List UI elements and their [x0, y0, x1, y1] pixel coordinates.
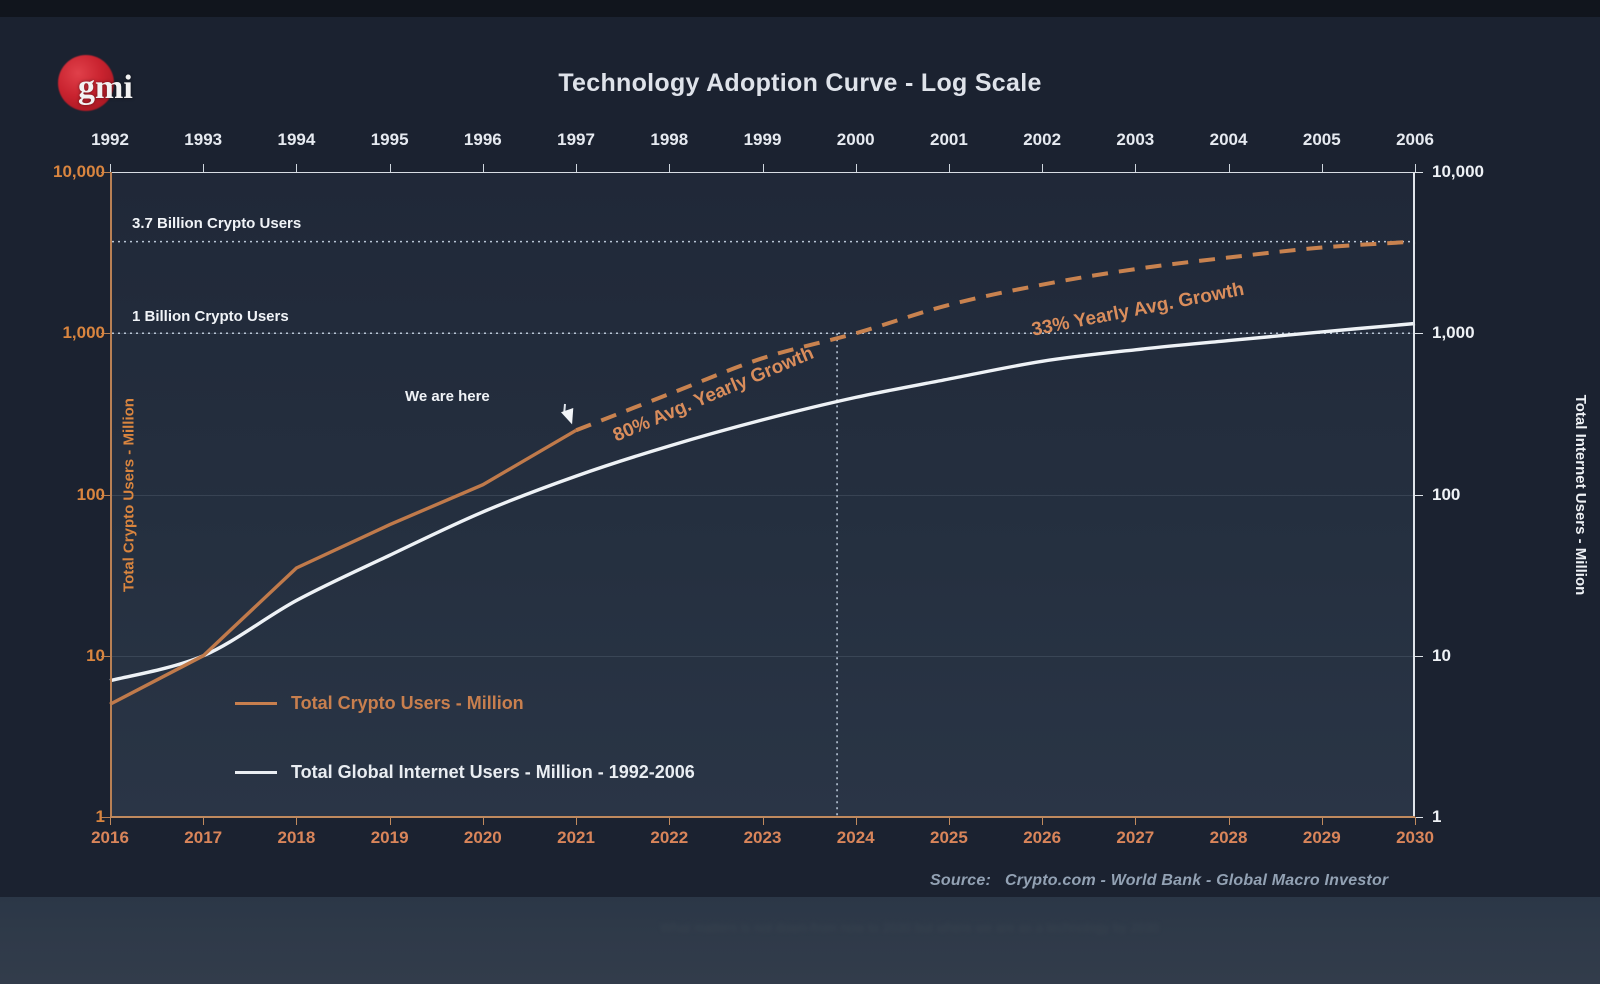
tick-bottom [203, 817, 204, 825]
y-axis-left-tick-label: 100 [77, 485, 105, 505]
tick-top [1229, 164, 1230, 172]
x-axis-top-tick-label: 2005 [1303, 130, 1341, 150]
y-axis-left-tick-label: 10,000 [53, 162, 105, 182]
tick-bottom [483, 817, 484, 825]
slide-canvas: gmi Technology Adoption Curve - Log Scal… [0, 0, 1600, 984]
tick-top [203, 164, 204, 172]
tick-bottom [856, 817, 857, 825]
tick-top [1415, 164, 1416, 172]
tick-top [669, 164, 670, 172]
x-axis-top-tick-label: 1997 [557, 130, 595, 150]
x-axis-top-tick-label: 1993 [184, 130, 222, 150]
y-axis-right-tick-label: 100 [1432, 485, 1460, 505]
tick-top [110, 164, 111, 172]
x-axis-top-tick-label: 1996 [464, 130, 502, 150]
x-axis-bottom-tick-label: 2023 [744, 828, 782, 848]
x-axis-bottom-tick-label: 2022 [650, 828, 688, 848]
x-axis-top-tick-label: 2006 [1396, 130, 1434, 150]
bottom-letterbox-band [0, 897, 1600, 984]
axis-bottom-line [110, 816, 1415, 818]
y-axis-right-tick-label: 10,000 [1432, 162, 1484, 182]
x-axis-bottom-tick-label: 2021 [557, 828, 595, 848]
x-axis-bottom-tick-label: 2020 [464, 828, 502, 848]
tick-bottom [1322, 817, 1323, 825]
legend-swatch-internet [235, 771, 277, 774]
x-axis-bottom-tick-label: 2019 [371, 828, 409, 848]
x-axis-bottom-tick-label: 2018 [278, 828, 316, 848]
series-lines [110, 172, 1415, 817]
x-axis-top-tick-label: 1994 [278, 130, 316, 150]
x-axis-top-tick-label: 1999 [744, 130, 782, 150]
y-axis-right-tick-label: 1 [1432, 807, 1441, 827]
tick-bottom [576, 817, 577, 825]
tick-bottom [110, 817, 111, 825]
x-axis-bottom-tick-label: 2027 [1116, 828, 1154, 848]
source-line: Source:Crypto.com - World Bank - Global … [930, 872, 1388, 890]
tick-bottom [669, 817, 670, 825]
slide-body: gmi Technology Adoption Curve - Log Scal… [0, 17, 1600, 897]
y-axis-right-tick-label: 1,000 [1432, 323, 1475, 343]
x-axis-bottom-tick-label: 2029 [1303, 828, 1341, 848]
tick-bottom [1229, 817, 1230, 825]
legend-label-internet: Total Global Internet Users - Million - … [291, 762, 695, 783]
source-key: Source: [930, 872, 991, 889]
y-axis-right-tick-label: 10 [1432, 646, 1451, 666]
x-axis-bottom-tick-label: 2024 [837, 828, 875, 848]
x-axis-bottom-tick-label: 2028 [1210, 828, 1248, 848]
annotation-1-billion: 1 Billion Crypto Users [132, 308, 289, 325]
annotation-37-billion: 3.7 Billion Crypto Users [132, 215, 301, 232]
x-axis-top-tick-label: 2002 [1023, 130, 1061, 150]
x-axis-bottom-tick-label: 2025 [930, 828, 968, 848]
blurred-footer-caption: What matters is not down-from now to 203… [660, 918, 1280, 938]
tick-top [949, 164, 950, 172]
tick-top [856, 164, 857, 172]
x-axis-bottom-tick-label: 2017 [184, 828, 222, 848]
tick-top [483, 164, 484, 172]
source-value: Crypto.com - World Bank - Global Macro I… [1005, 872, 1388, 889]
legend-swatch-crypto [235, 702, 277, 705]
tick-bottom [1042, 817, 1043, 825]
tick-top [1322, 164, 1323, 172]
y-axis-left-tick-label: 1 [96, 807, 105, 827]
x-axis-bottom-tick-label: 2016 [91, 828, 129, 848]
tick-top [296, 164, 297, 172]
page-title: Technology Adoption Curve - Log Scale [0, 69, 1600, 98]
axis-title-right: Total Internet Users - Million [1572, 394, 1589, 595]
axis-title-left: Total Crypto Users - Million [120, 398, 137, 592]
legend-item-crypto[interactable]: Total Crypto Users - Million [235, 693, 524, 714]
tick-bottom [1135, 817, 1136, 825]
tick-top [576, 164, 577, 172]
tick-top [390, 164, 391, 172]
x-axis-top-tick-label: 1998 [650, 130, 688, 150]
x-axis-bottom-tick-label: 2026 [1023, 828, 1061, 848]
tick-top [1042, 164, 1043, 172]
tick-top [1135, 164, 1136, 172]
we-are-here-arrow [561, 404, 573, 424]
tick-bottom [1415, 817, 1416, 825]
tick-bottom [763, 817, 764, 825]
x-axis-top-tick-label: 1992 [91, 130, 129, 150]
y-axis-left-tick-label: 1,000 [62, 323, 105, 343]
x-axis-top-tick-label: 2003 [1116, 130, 1154, 150]
reference-lines [112, 242, 1415, 817]
tick-top [763, 164, 764, 172]
x-axis-bottom-tick-label: 2030 [1396, 828, 1434, 848]
legend-item-internet[interactable]: Total Global Internet Users - Million - … [235, 762, 695, 783]
tick-bottom [296, 817, 297, 825]
annotation-we-are-here: We are here [405, 388, 490, 405]
top-letterbox-bar [0, 0, 1600, 17]
legend-label-crypto: Total Crypto Users - Million [291, 693, 524, 714]
x-axis-top-tick-label: 1995 [371, 130, 409, 150]
tick-bottom [949, 817, 950, 825]
axis-right-line [1413, 172, 1415, 817]
x-axis-top-tick-label: 2004 [1210, 130, 1248, 150]
axis-left-line [110, 172, 112, 817]
x-axis-top-tick-label: 2000 [837, 130, 875, 150]
x-axis-top-tick-label: 2001 [930, 130, 968, 150]
y-axis-left-tick-label: 10 [86, 646, 105, 666]
chart-plot-area: 10,0001,000100101 10,0001,000100101 1992… [110, 172, 1415, 817]
axis-top-line [110, 172, 1415, 173]
tick-bottom [390, 817, 391, 825]
